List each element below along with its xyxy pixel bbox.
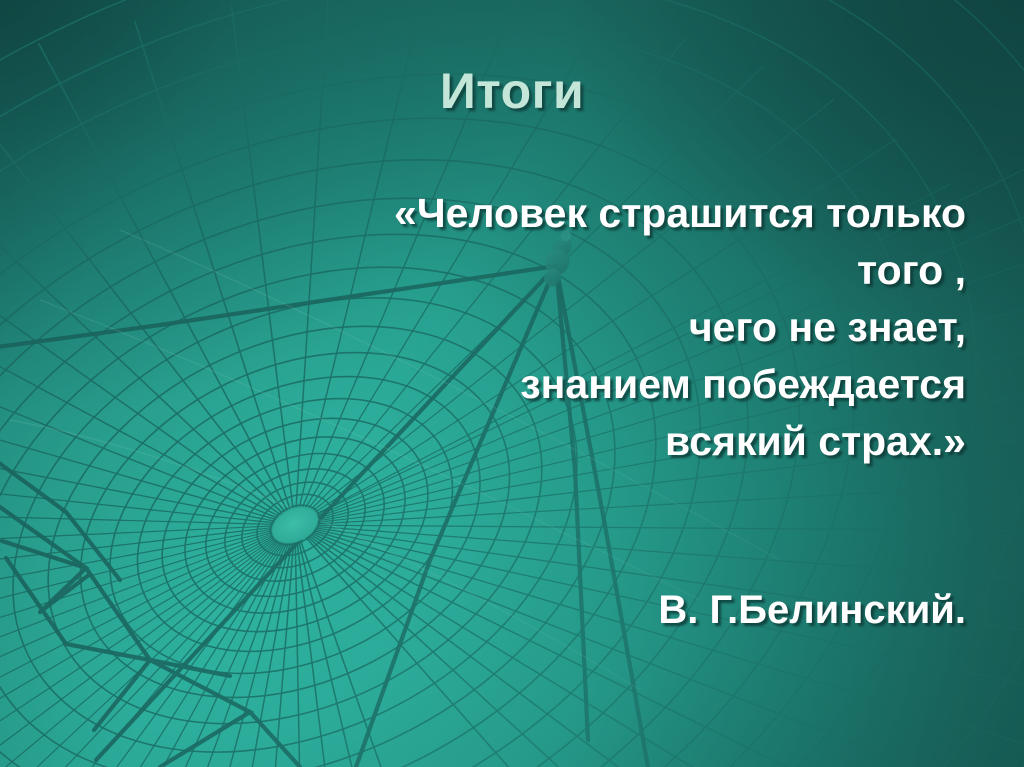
quote-line: чего не знает, xyxy=(106,299,966,356)
quote-line: «Человек страшится только xyxy=(106,185,966,242)
quote-attribution: В. Г.Белинский. xyxy=(106,588,966,633)
quote-line: всякий страх.» xyxy=(106,413,966,470)
quote-line: того , xyxy=(106,242,966,299)
page-title: Итоги xyxy=(0,62,1024,120)
quote-text-block: «Человек страшится только того , чего не… xyxy=(106,185,966,470)
quote-line: знанием побеждается xyxy=(106,356,966,413)
presentation-slide: Итоги «Человек страшится только того , ч… xyxy=(0,0,1024,767)
